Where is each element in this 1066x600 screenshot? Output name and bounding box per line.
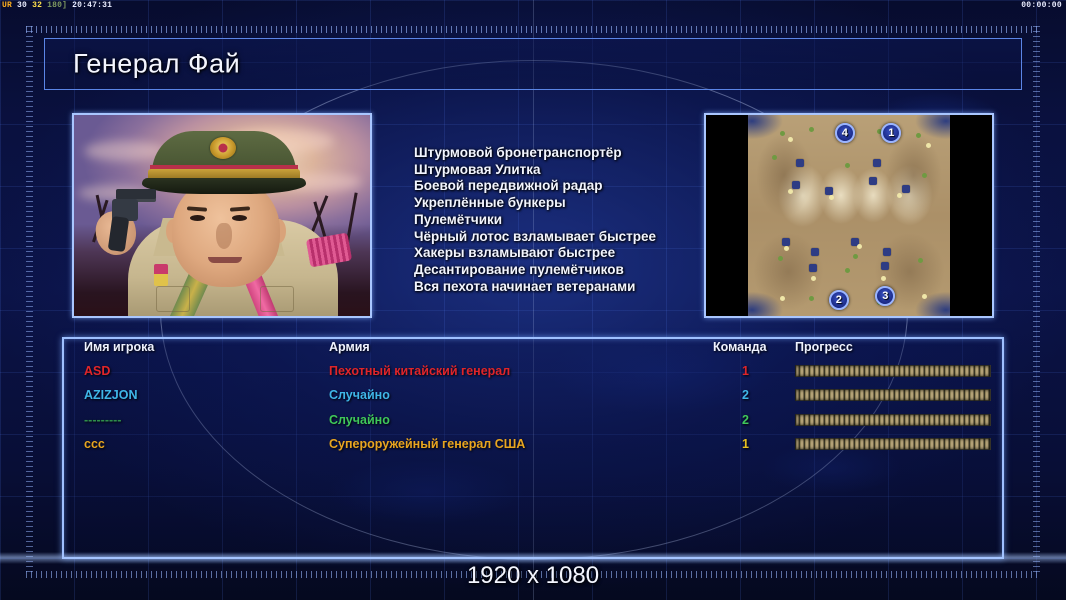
player-team[interactable]: 2 xyxy=(742,413,749,427)
minimap-structure xyxy=(883,248,891,256)
frame-ruler-right xyxy=(1033,26,1040,574)
minimap-supply xyxy=(857,244,862,249)
fps-seg-1: 30 xyxy=(17,1,27,10)
general-abilities-list: Штурмовой бронетранспортёр Штурмовая Ули… xyxy=(382,113,692,318)
fps-seg-3: 180] xyxy=(47,1,67,10)
table-row[interactable]: AZIZJON Случайно 2 xyxy=(62,388,1004,412)
ability-item: Хакеры взламывают быстрее xyxy=(414,245,692,262)
ability-item: Вся пехота начинает ветеранами xyxy=(414,279,692,296)
minimap-structure xyxy=(809,264,817,272)
uniform-medal xyxy=(154,264,168,286)
column-header-army: Армия xyxy=(329,340,370,354)
minimap-structure xyxy=(792,181,800,189)
pistol-icon xyxy=(108,189,162,263)
minimap-structure xyxy=(782,238,790,246)
ability-item: Боевой передвижной радар xyxy=(414,178,692,195)
minimap-supply xyxy=(922,294,927,299)
minimap-foliage xyxy=(809,296,814,301)
minimap-supply xyxy=(926,143,931,148)
title-panel: Генерал Фай xyxy=(44,38,1022,90)
table-row[interactable]: ASD Пехотный китайский генерал 1 xyxy=(62,364,1004,388)
fps-seg-2: 32 xyxy=(32,1,42,10)
nose xyxy=(216,223,232,249)
fps-seg-4: 20:47:31 xyxy=(72,1,112,10)
general-info-row: Штурмовой бронетранспортёр Штурмовая Ули… xyxy=(62,108,1004,326)
fps-readout: UR 30 32 180] 20:47:31 xyxy=(2,0,112,11)
ability-item: Штурмовая Улитка xyxy=(414,162,692,179)
eye-left xyxy=(190,215,205,221)
session-clock: 00:00:00 xyxy=(1021,0,1062,11)
player-team[interactable]: 2 xyxy=(742,388,749,402)
table-row[interactable]: ccc Супероружейный генерал США 1 xyxy=(62,437,1004,461)
minimap-start-position[interactable]: 3 xyxy=(875,286,895,306)
player-progress-bar xyxy=(795,365,991,377)
player-progress-bar xyxy=(795,438,991,450)
ability-item: Чёрный лотос взламывает быстрее xyxy=(414,229,692,246)
player-army[interactable]: Случайно xyxy=(329,388,390,402)
frame-ruler-top xyxy=(26,26,1040,33)
player-name[interactable]: ASD xyxy=(84,364,110,378)
pistol-grip xyxy=(108,216,130,252)
eye-right xyxy=(232,215,247,221)
cloud-1 xyxy=(84,141,164,161)
cap-badge-icon xyxy=(210,137,236,159)
portrait-artwork xyxy=(74,115,370,316)
page-title: Генерал Фай xyxy=(73,49,240,80)
player-army[interactable]: Случайно xyxy=(329,413,390,427)
resolution-label: 1920 x 1080 xyxy=(0,562,1066,590)
minimap-foliage xyxy=(853,254,858,259)
player-table-header: Имя игрока Армия Команда Прогресс xyxy=(62,340,1004,360)
minimap-foliage xyxy=(845,268,850,273)
ability-item: Укреплённые бункеры xyxy=(414,195,692,212)
player-name[interactable]: AZIZJON xyxy=(84,388,137,402)
column-header-player-name: Имя игрока xyxy=(84,340,154,354)
table-row[interactable]: --------- Случайно 2 xyxy=(62,413,1004,437)
minimap-terrain: 4 1 2 3 xyxy=(748,115,950,316)
player-progress-bar xyxy=(795,414,991,426)
minimap-foliage xyxy=(809,127,814,132)
player-team[interactable]: 1 xyxy=(742,437,749,451)
minimap-structure xyxy=(902,185,910,193)
minimap-start-position[interactable]: 2 xyxy=(829,290,849,310)
player-team[interactable]: 1 xyxy=(742,364,749,378)
player-name[interactable]: --------- xyxy=(84,413,121,427)
minimap-structure xyxy=(869,177,877,185)
ability-item: Пулемётчики xyxy=(414,212,692,229)
minimap-structure xyxy=(796,159,804,167)
column-header-team: Команда xyxy=(713,340,767,354)
minimap-preview[interactable]: 4 1 2 3 xyxy=(704,113,994,318)
uniform-pocket-right xyxy=(260,286,294,312)
minimap-foliage xyxy=(918,258,923,263)
game-screen: UR 30 32 180] 20:47:31 00:00:00 Генерал … xyxy=(0,0,1066,600)
fps-seg-0: UR xyxy=(2,1,12,10)
minimap-water-corners xyxy=(748,115,950,316)
player-list: ASD Пехотный китайский генерал 1 AZIZJON… xyxy=(62,364,1004,462)
minimap-foliage xyxy=(916,133,921,138)
uniform-pocket-left xyxy=(156,286,190,312)
ability-item: Десантирование пулемётчиков xyxy=(414,262,692,279)
player-army[interactable]: Супероружейный генерал США xyxy=(329,437,525,451)
minimap-structure xyxy=(825,187,833,195)
minimap-structure xyxy=(873,159,881,167)
ability-item: Штурмовой бронетранспортёр xyxy=(414,145,692,162)
minimap-start-position[interactable]: 4 xyxy=(835,123,855,143)
minimap-supply xyxy=(811,276,816,281)
player-name[interactable]: ccc xyxy=(84,437,105,451)
minimap-structure xyxy=(881,262,889,270)
minimap-structure xyxy=(811,248,819,256)
cap-brim xyxy=(142,178,306,194)
column-header-progress: Прогресс xyxy=(795,340,853,354)
player-army[interactable]: Пехотный китайский генерал xyxy=(329,364,510,378)
frame-ruler-left xyxy=(26,26,33,574)
mouth xyxy=(208,257,242,263)
general-portrait xyxy=(72,113,372,318)
player-progress-bar xyxy=(795,389,991,401)
debug-status-bar: UR 30 32 180] 20:47:31 00:00:00 xyxy=(0,0,1066,11)
